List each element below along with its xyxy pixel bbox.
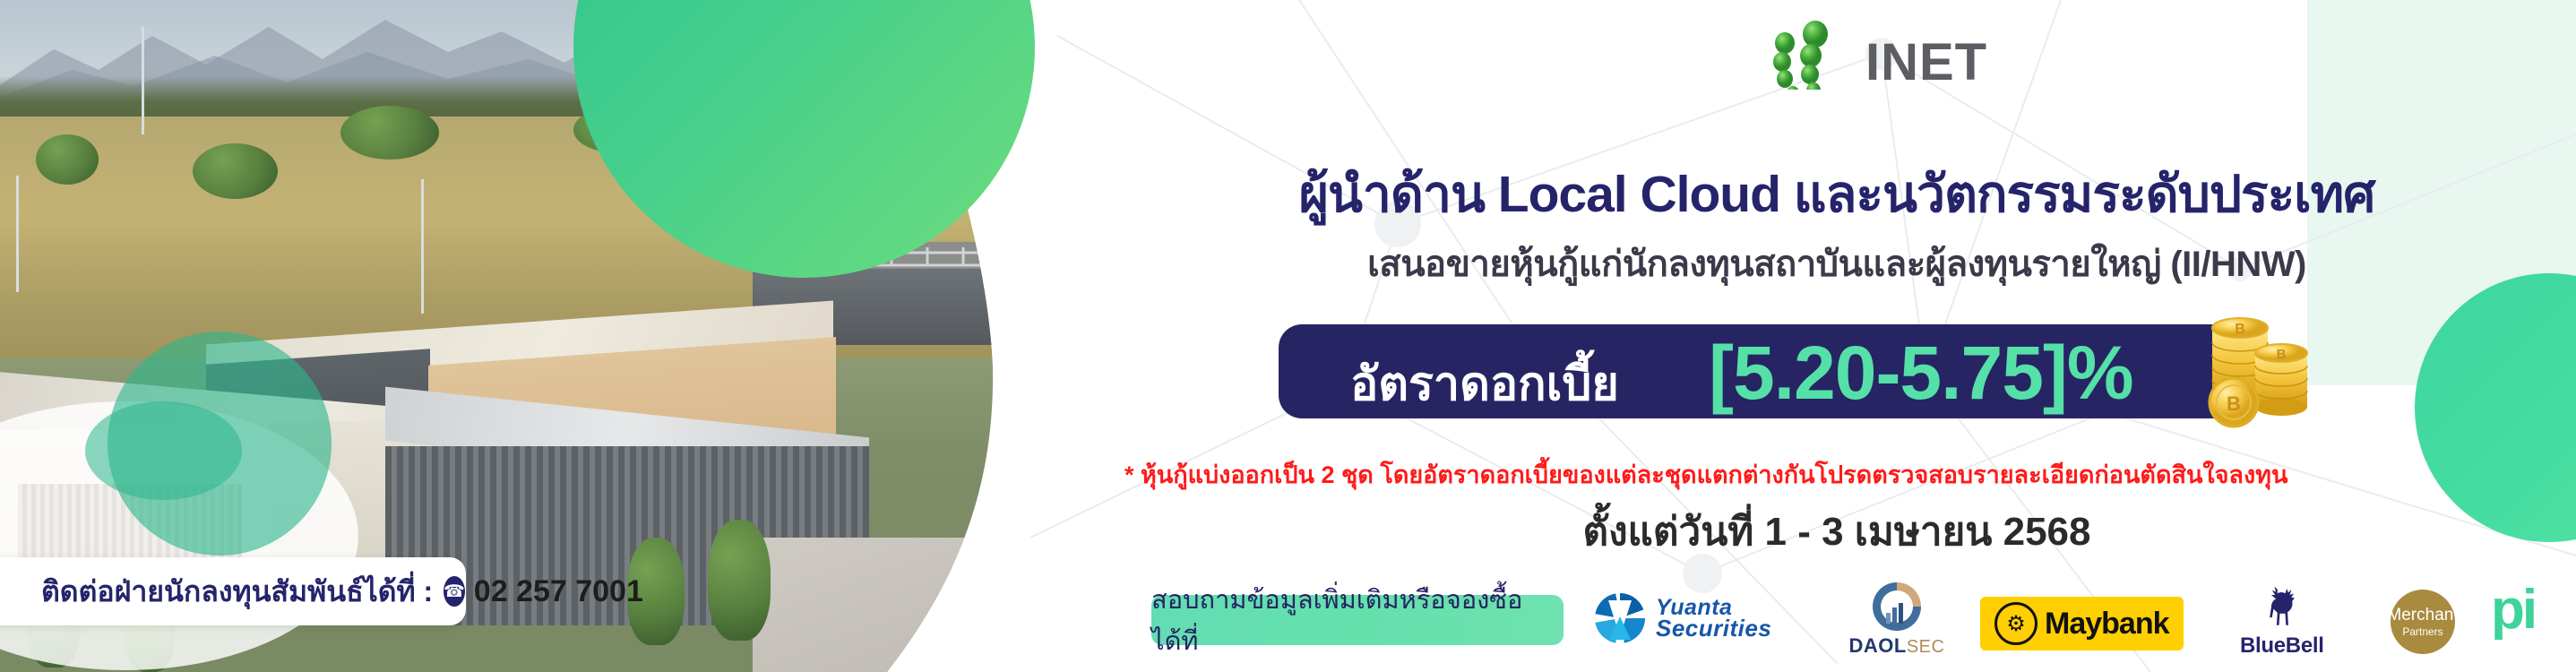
offering-date-range: ตั้งแต่วันที่ 1 - 3 เมษายน 2568	[1178, 500, 2495, 563]
partner-logo-pi[interactable]: pi	[2491, 588, 2535, 633]
bluebell-label: BlueBell	[2240, 633, 2324, 659]
bluebell-deer-icon	[2240, 586, 2324, 633]
partner-logos: Yuanta Securities DAOLSEC ⚙	[1595, 581, 2545, 663]
daol-mark-icon	[1873, 582, 1921, 631]
svg-text:B: B	[2227, 392, 2241, 415]
interest-rate-value: [5.20-5.75]%	[1709, 330, 2133, 417]
contact-phone-number[interactable]: 02 257 7001	[474, 574, 643, 609]
maybank-label: Maybank	[2045, 607, 2169, 642]
inet-logo[interactable]: INET	[1765, 20, 2025, 90]
merchant-line1: Merchant	[2387, 606, 2458, 625]
partner-logo-yuanta[interactable]: Yuanta Securities	[1595, 593, 1771, 643]
yuanta-line2: Securities	[1656, 618, 1771, 640]
inet-bond-offering-banner: INET ผู้นำด้าน Local Cloud และนวัตกรรมระ…	[0, 0, 2576, 672]
investor-relations-contact-card: ติดต่อฝ่ายนักลงทุนสัมพันธ์ได้ที่ : ☎ 02 …	[0, 557, 466, 625]
yuanta-star-icon	[1595, 593, 1645, 643]
svg-text:B: B	[2277, 347, 2287, 362]
daol-bold: DAOL	[1849, 634, 1907, 657]
partner-logo-daol[interactable]: DAOLSEC	[1848, 582, 1955, 656]
merchant-line2: Partners	[2402, 625, 2442, 638]
phone-icon: ☎	[444, 576, 465, 607]
gold-coins-icon: B B B	[2200, 308, 2334, 434]
svg-text:B: B	[2235, 322, 2245, 337]
deer-icon	[2259, 586, 2305, 627]
page-subtitle: เสนอขายหุ้นกู้แก่นักลงทุนสถาบันและผู้ลงท…	[1178, 235, 2495, 292]
daol-light: SEC	[1907, 637, 1945, 657]
page-title: ผู้นำด้าน Local Cloud และนวัตกรรมระดับปร…	[1178, 154, 2495, 235]
partner-logo-merchant-partners[interactable]: Merchant Partners	[2391, 590, 2455, 654]
inet-logo-text: INET	[1865, 32, 1987, 92]
partner-logo-bluebell[interactable]: BlueBell	[2240, 586, 2324, 659]
contact-label: ติดต่อฝ่ายนักลงทุนสัมพันธ์ได้ที่ :	[41, 569, 433, 615]
pi-label: pi	[2491, 588, 2535, 633]
inet-logo-dots-icon	[1765, 20, 1864, 90]
maybank-tiger-icon: ⚙	[1994, 602, 2038, 645]
interest-rate-label: อัตราดอกเบี้ย	[1350, 346, 1619, 420]
interest-rate-box: อัตราดอกเบี้ย [5.20-5.75]%	[1279, 324, 2255, 418]
inquiry-cta-button[interactable]: สอบถามข้อมูลเพิ่มเติมหรือจองซื้อได้ที่	[1151, 595, 1564, 645]
daol-bars-icon	[1885, 600, 1910, 624]
disclaimer-text: * หุ้นกู้แบ่งออกเป็น 2 ชุด โดยอัตราดอกเบ…	[1124, 455, 2558, 494]
partner-logo-maybank[interactable]: ⚙ Maybank	[1980, 597, 2184, 650]
